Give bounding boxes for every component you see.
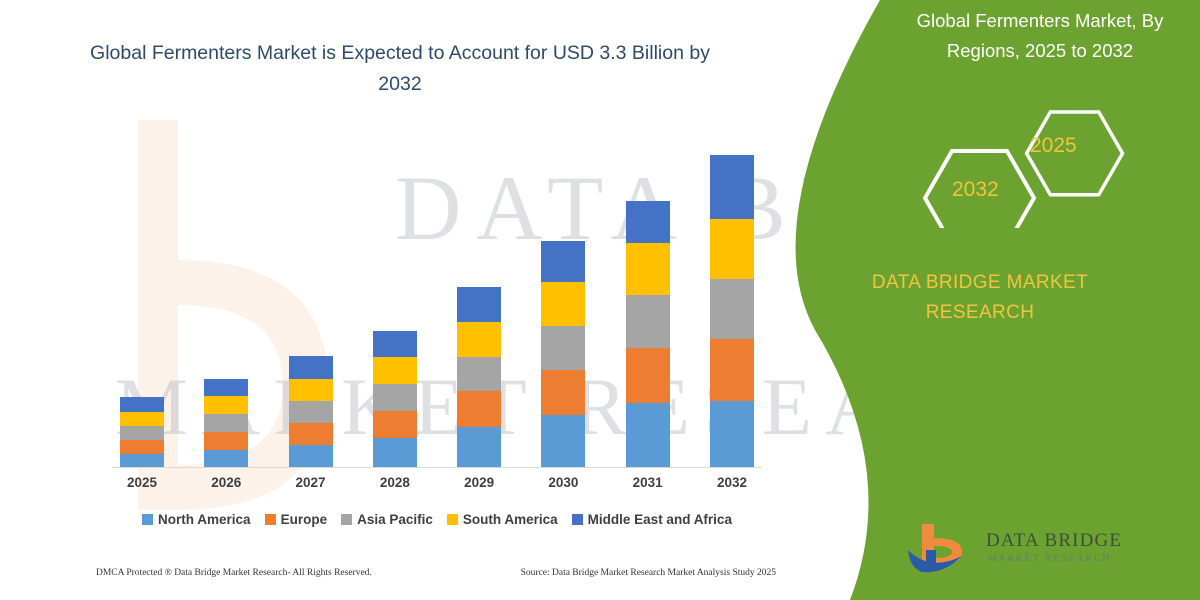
hexagon-label-back: 2032 — [952, 178, 999, 202]
bar-column — [289, 356, 333, 468]
bar-segment — [541, 370, 585, 415]
legend-label: Asia Pacific — [357, 512, 433, 527]
bar-segment — [626, 348, 670, 403]
legend-label: South America — [463, 512, 558, 527]
legend-item[interactable]: Europe — [265, 512, 328, 527]
bar-segment — [541, 326, 585, 370]
legend-swatch-icon — [572, 514, 583, 525]
brand-panel-title: Global Fermenters Market, By Regions, 20… — [890, 6, 1190, 66]
x-axis-label: 2026 — [204, 475, 248, 490]
legend-item[interactable]: Asia Pacific — [341, 512, 433, 527]
bar-segment — [120, 397, 164, 412]
bar-segment — [710, 401, 754, 468]
brand-name: DATA BRIDGE MARKET RESEARCH — [820, 268, 1140, 328]
legend-item[interactable]: Middle East and Africa — [572, 512, 732, 527]
bar-segment — [204, 450, 248, 468]
bar-segment — [120, 426, 164, 440]
bar-segment — [626, 295, 670, 348]
chart-legend: North AmericaEuropeAsia PacificSouth Ame… — [112, 512, 762, 527]
hexagon-outlines-icon — [820, 98, 1140, 228]
bar-segment — [204, 396, 248, 414]
bar-segment — [204, 432, 248, 450]
bar-segment — [289, 356, 333, 379]
x-axis-line — [112, 467, 762, 468]
bar-segment — [373, 384, 417, 411]
bar-segment — [541, 415, 585, 468]
bar-segment — [541, 241, 585, 282]
bar-segment — [457, 322, 501, 357]
bar-segment — [373, 357, 417, 384]
x-axis-label: 2025 — [120, 475, 164, 490]
bar-segment — [204, 379, 248, 396]
footer-dmca-text: DMCA Protected ® Data Bridge Market Rese… — [96, 568, 372, 578]
x-axis-label: 2027 — [289, 475, 333, 490]
hexagon-label-front: 2025 — [1030, 134, 1077, 158]
legend-swatch-icon — [341, 514, 352, 525]
bar-segment — [710, 279, 754, 339]
bar-column — [541, 241, 585, 468]
bar-segment — [289, 423, 333, 445]
bar-segment — [120, 440, 164, 454]
bar-column — [120, 397, 164, 468]
bar-segment — [457, 357, 501, 391]
bar-segment — [373, 438, 417, 468]
logo-text-secondary: MARKET RESEARCH — [988, 554, 1111, 564]
logo-text-primary: DATA BRIDGE — [986, 530, 1122, 552]
x-axis-labels: 20252026202720282029203020312032 — [112, 475, 762, 490]
x-axis-label: 2031 — [626, 475, 670, 490]
bar-segment — [626, 243, 670, 295]
bar-column — [204, 379, 248, 468]
bar-group — [112, 140, 762, 468]
chart-title: Global Fermenters Market is Expected to … — [90, 38, 710, 100]
x-axis-label: 2029 — [457, 475, 501, 490]
bar-segment — [710, 219, 754, 279]
bar-segment — [541, 282, 585, 326]
legend-item[interactable]: South America — [447, 512, 558, 527]
legend-item[interactable]: North America — [142, 512, 251, 527]
brand-panel: Global Fermenters Market, By Regions, 20… — [760, 0, 1200, 600]
brand-name-line1: DATA BRIDGE MARKET — [820, 268, 1140, 298]
hexagon-group: 2025 2032 — [820, 98, 1140, 228]
bar-column — [710, 155, 754, 468]
bar-segment — [710, 339, 754, 401]
data-bridge-b-logo-icon — [900, 520, 980, 578]
bar-segment — [710, 155, 754, 219]
company-logo: DATA BRIDGE MARKET RESEARCH — [900, 520, 1150, 582]
chart-panel: Global Fermenters Market is Expected to … — [0, 0, 880, 600]
bar-segment — [373, 411, 417, 438]
bar-column — [457, 287, 501, 468]
brand-panel-content: Global Fermenters Market, By Regions, 20… — [760, 0, 1200, 600]
bar-segment — [457, 427, 501, 468]
bar-column — [626, 201, 670, 468]
bar-segment — [120, 454, 164, 468]
plot-area — [112, 140, 762, 468]
bar-segment — [457, 391, 501, 427]
bar-column — [373, 331, 417, 468]
bar-segment — [626, 403, 670, 468]
x-axis-label: 2030 — [541, 475, 585, 490]
bar-segment — [204, 414, 248, 432]
bar-segment — [120, 412, 164, 426]
bar-segment — [373, 331, 417, 357]
x-axis-label: 2032 — [710, 475, 754, 490]
legend-label: Middle East and Africa — [588, 512, 732, 527]
bar-segment — [289, 401, 333, 423]
legend-swatch-icon — [265, 514, 276, 525]
bar-segment — [289, 445, 333, 468]
x-axis-label: 2028 — [373, 475, 417, 490]
bar-segment — [289, 379, 333, 401]
footer: DMCA Protected ® Data Bridge Market Rese… — [96, 568, 776, 578]
legend-swatch-icon — [142, 514, 153, 525]
bar-segment — [457, 287, 501, 322]
footer-source-text: Source: Data Bridge Market Research Mark… — [521, 568, 776, 578]
brand-name-line2: RESEARCH — [820, 298, 1140, 328]
legend-label: Europe — [281, 512, 328, 527]
legend-swatch-icon — [447, 514, 458, 525]
legend-label: North America — [158, 512, 251, 527]
bar-segment — [626, 201, 670, 243]
infographic-page: DATA BRIDGE MARKET RESEARCH Global Ferme… — [0, 0, 1200, 600]
